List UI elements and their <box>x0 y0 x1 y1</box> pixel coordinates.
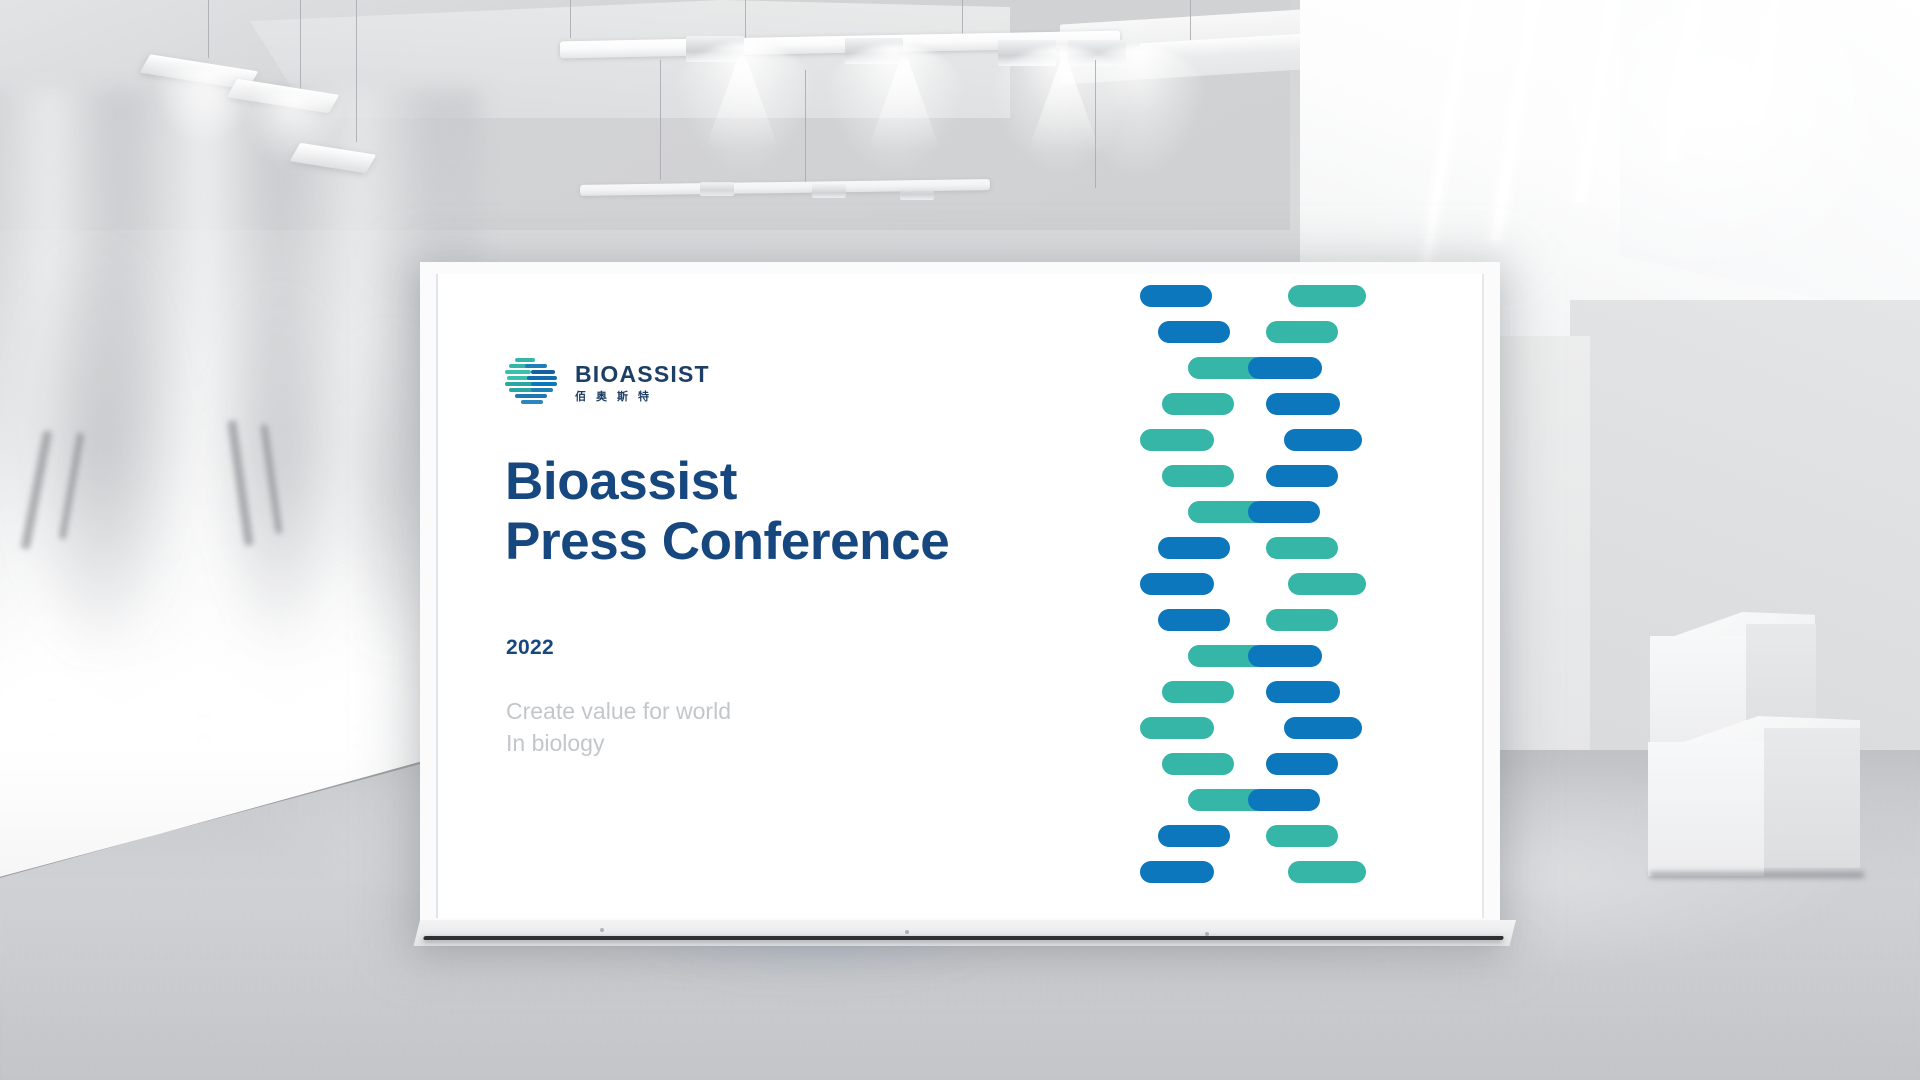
dna-bar-right <box>1248 645 1322 667</box>
dna-bar-left <box>1140 285 1212 307</box>
dna-sequence-icon <box>1140 285 1400 915</box>
light-cable <box>745 0 746 42</box>
dna-bar-right <box>1266 753 1338 775</box>
lamp-glow <box>238 92 348 172</box>
title-line-2: Press Conference <box>505 512 1145 572</box>
dna-bar-left <box>1162 465 1234 487</box>
pendant-lamp-head-icon <box>812 184 846 198</box>
light-cable <box>300 0 301 100</box>
presentation-scene: BIOASSIST 佰奥斯特 Bioassist Press Conferenc… <box>0 0 1920 1080</box>
dna-bar-right <box>1248 501 1320 523</box>
board-base <box>414 920 1516 946</box>
light-cable <box>1190 0 1191 40</box>
dna-bar-left <box>1162 393 1234 415</box>
dna-bar-right <box>1266 393 1340 415</box>
left-wall-shadows <box>0 150 430 710</box>
dna-bar-right <box>1284 429 1362 451</box>
dna-bar-right <box>1266 609 1338 631</box>
dna-bar-left <box>1140 573 1214 595</box>
dna-bar-left <box>1140 861 1214 883</box>
dna-bar-right <box>1266 537 1338 559</box>
dna-bar-right <box>1266 681 1340 703</box>
logo-lockup-text: BIOASSIST 佰奥斯特 <box>575 363 710 402</box>
dna-bar-right <box>1248 789 1320 811</box>
light-cable <box>356 0 357 142</box>
light-cable <box>570 0 571 38</box>
page-title: Bioassist Press Conference <box>505 452 1145 573</box>
light-cable <box>1095 60 1096 188</box>
logo-wordmark: BIOASSIST <box>575 363 710 386</box>
dna-bar-right <box>1288 861 1366 883</box>
dna-bar-right <box>1266 465 1338 487</box>
tagline-line-2: In biology <box>506 728 926 760</box>
pendant-lamp-head-icon <box>900 186 934 200</box>
tagline-line-1: Create value for world <box>506 696 926 728</box>
dna-bar-right <box>1288 285 1366 307</box>
slide-edge <box>436 274 438 918</box>
dna-bar-left <box>1158 321 1230 343</box>
dna-bar-right <box>1288 573 1366 595</box>
dna-bar-right <box>1266 825 1338 847</box>
logo-chinese-name: 佰奥斯特 <box>575 391 710 402</box>
dna-bar-left <box>1162 753 1234 775</box>
dna-bar-left <box>1140 717 1214 739</box>
dna-bar-right <box>1248 357 1322 379</box>
bioassist-bars-logo-icon <box>505 356 559 408</box>
board-base-mark <box>1205 932 1209 936</box>
tagline: Create value for world In biology <box>506 696 926 759</box>
light-cable <box>805 70 806 182</box>
dna-bar-left <box>1162 681 1234 703</box>
pendant-lamp-head-icon <box>700 182 734 196</box>
slide-edge <box>1482 274 1484 918</box>
light-cable <box>660 60 661 180</box>
board-base-mark <box>905 930 909 934</box>
dna-bar-left <box>1140 429 1214 451</box>
dna-bar-left <box>1158 609 1230 631</box>
board-base-shadow-line <box>423 936 1504 940</box>
light-cable <box>208 0 209 58</box>
year-label: 2022 <box>506 636 554 660</box>
dna-bar-right <box>1284 717 1362 739</box>
dna-bar-right <box>1266 321 1338 343</box>
dna-bar-left <box>1158 537 1230 559</box>
dna-bar-left <box>1158 825 1230 847</box>
board-base-mark <box>600 928 604 932</box>
brand-logo[interactable]: BIOASSIST 佰奥斯特 <box>505 356 710 408</box>
title-line-1: Bioassist <box>505 452 737 511</box>
